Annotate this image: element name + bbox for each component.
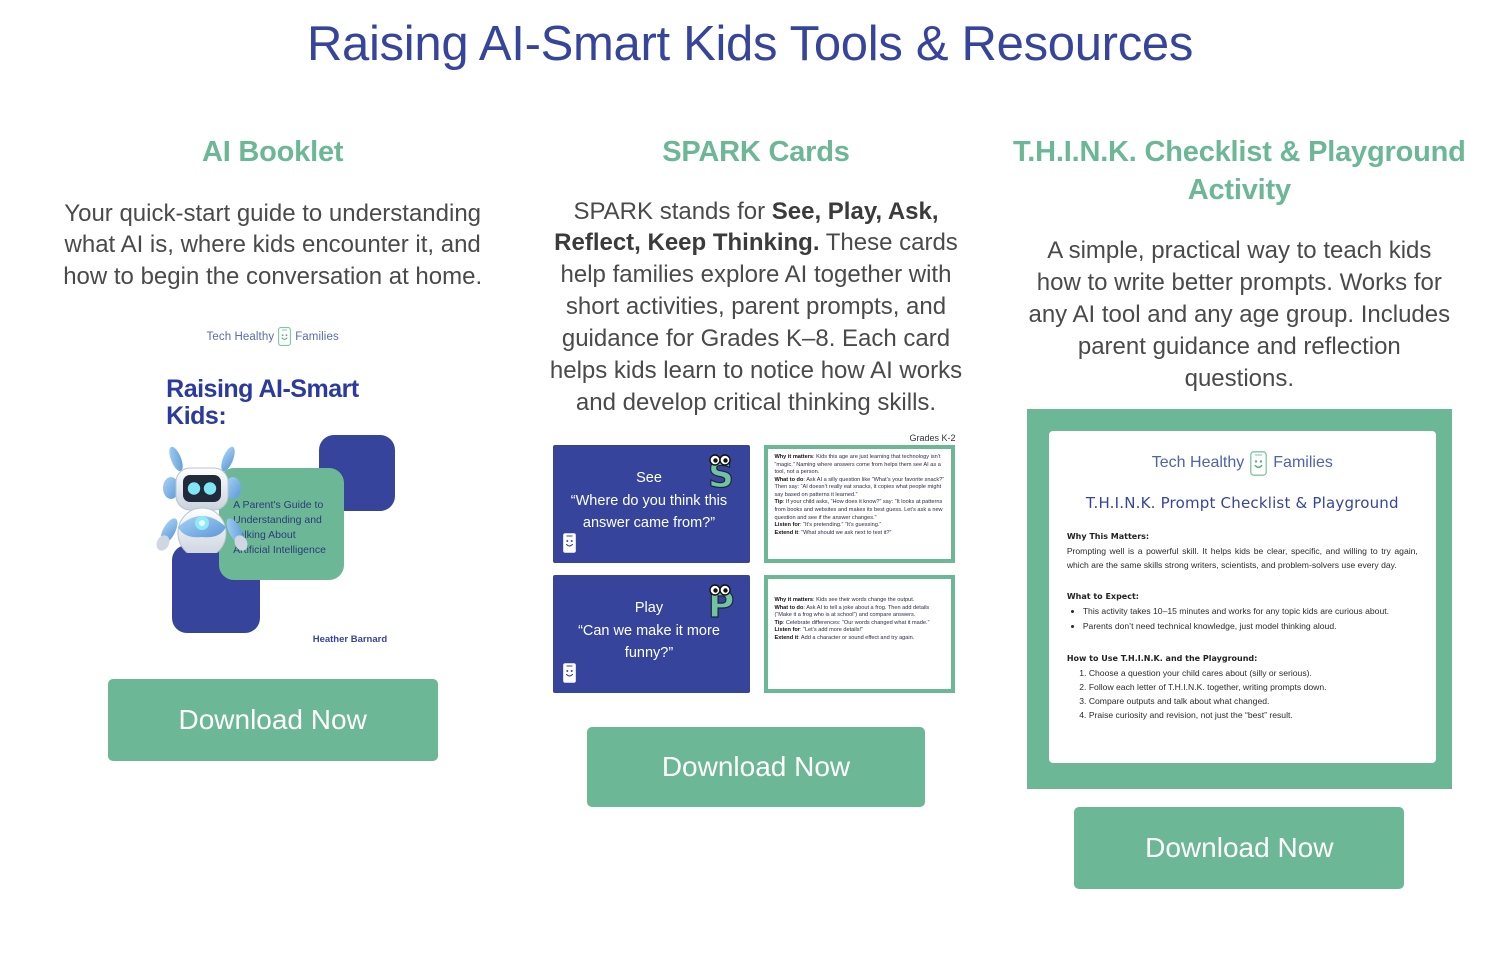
brand-name-right: Families [1273,454,1333,472]
think-section-heading-expect: What to Expect: [1067,592,1418,601]
list-item: Follow each letter of T.H.I.N.K. togethe… [1089,681,1418,695]
download-button-think-checklist[interactable]: Download Now [1074,807,1404,889]
phone-smiley-icon [1250,451,1267,476]
spark-note-text: : “It’s pretending.” “It’s guessing.” [800,522,881,528]
spark-note-text: : “Let’s add more details!” [800,627,863,633]
spark-note-line: What to do: Ask AI a silly question like… [774,477,945,500]
resource-heading-think-checklist: T.H.I.N.K. Checklist & Playground Activi… [1009,134,1470,209]
think-section-heading-why: Why This Matters: [1067,532,1418,541]
booklet-cover-artwork: A Parent's Guide to Understanding and Ta… [144,435,401,650]
think-document-preview: Tech Healthy Families T.H [1027,409,1452,789]
spark-note-label: Why it matters [774,597,813,603]
spark-note-label: Tip [774,499,782,505]
robot-mascot-icon [154,443,250,553]
brand-name-left: Tech Healthy [207,331,275,343]
spark-note-label: What to do [774,477,803,483]
think-howto-list: Choose a question your child cares about… [1089,667,1418,723]
spark-letter-p-icon: P [704,581,738,621]
resource-description-think-checklist: A simple, practical way to teach kids ho… [1027,235,1452,395]
spark-note-label: Extend it [774,635,798,641]
spark-note-line: Why it matters: Kids see their words cha… [774,597,945,605]
think-document-page: Tech Healthy Families T.H [1049,431,1436,763]
spark-card-see-prompt: “Where do you think this answer came fro… [567,490,730,535]
spark-note-line: Why it matters: Kids this age are just l… [774,454,945,477]
spark-grade-label: Grades K-2 [553,433,958,443]
download-button-ai-booklet[interactable]: Download Now [108,679,438,761]
spark-note-line: What to do: Ask AI to tell a joke about … [774,605,945,620]
spark-card-see: See “Where do you think this answer came… [553,445,750,563]
spark-note-line: Listen for: “It’s pretending.” “It’s gue… [774,522,945,530]
spark-note-text: : Kids see their words change the output… [813,597,914,603]
brand-name-right: Families [295,331,339,343]
spark-phone-watermark-icon [562,532,577,554]
spark-note-label: Listen for [774,627,799,633]
think-document-title: T.H.I.N.K. Prompt Checklist & Playground [1067,494,1418,512]
download-button-spark-cards[interactable]: Download Now [587,727,925,807]
spark-note-text: : Add a character or sound effect and tr… [798,635,914,641]
spark-desc-lead: SPARK stands for [573,198,771,225]
spark-letter-s-icon: S [704,451,738,491]
spark-note-line: Extend it: Add a character or sound effe… [774,635,945,643]
spark-note-label: Tip [774,620,782,626]
list-item: Praise curiosity and revision, not just … [1089,709,1418,723]
think-section-heading-howto: How to Use T.H.I.N.K. and the Playground… [1067,654,1418,663]
think-section-text-why: Prompting well is a powerful skill. It h… [1067,545,1418,573]
list-item: This activity takes 10–15 minutes and wo… [1083,605,1418,619]
spark-desc-rest: These cards help families explore AI tog… [550,229,962,416]
resource-columns: AI Booklet Your quick-start guide to und… [0,134,1500,889]
spark-note-line: Tip: If your child asks, “How does it kn… [774,499,945,522]
spark-note-label: Why it matters [774,454,813,460]
spark-notes-panel-see: Why it matters: Kids this age are just l… [764,445,955,563]
resource-description-spark-cards: SPARK stands for See, Play, Ask, Reflect… [541,196,971,419]
booklet-author-byline: Heather Barnard [313,634,387,645]
spark-note-text: : “What should we ask next to test it?” [798,530,891,536]
spark-cards-preview: Grades K-2 See “Where do you think this … [553,433,958,705]
resource-heading-ai-booklet: AI Booklet [202,134,343,172]
think-brand-logo: Tech Healthy Families [1067,451,1418,476]
spark-note-line: Listen for: “Let’s add more details!” [774,627,945,635]
resource-card-ai-booklet: AI Booklet Your quick-start guide to und… [42,134,503,761]
resource-description-ai-booklet: Your quick-start guide to understanding … [63,198,483,294]
booklet-brand-logo: Tech Healthy Families [144,327,401,346]
booklet-cover-title: Raising AI-Smart Kids: [166,376,401,429]
resource-card-spark-cards: SPARK Cards SPARK stands for See, Play, … [525,134,986,807]
spark-note-text: : If your child asks, “How does it know?… [774,499,942,520]
think-expect-list: This activity takes 10–15 minutes and wo… [1083,605,1418,634]
page-title: Raising AI-Smart Kids Tools & Resources [0,0,1500,72]
spark-card-row: See “Where do you think this answer came… [553,445,958,563]
booklet-cover-preview: Tech Healthy Families Raising AI-Smart K… [144,313,401,653]
list-item: Parents don’t need technical knowledge, … [1083,620,1418,634]
spark-note-text: : Celebrate differences: “Our words chan… [783,620,930,626]
resource-card-think-checklist: T.H.I.N.K. Checklist & Playground Activi… [1009,134,1470,889]
spark-note-line: Extend it: “What should we ask next to t… [774,530,945,538]
spark-note-label: Extend it [774,530,798,536]
list-item: Compare outputs and talk about what chan… [1089,695,1418,709]
resource-heading-spark-cards: SPARK Cards [662,134,849,172]
list-item: Choose a question your child cares about… [1089,667,1418,681]
spark-notes-panel-play: Why it matters: Kids see their words cha… [764,575,955,693]
brand-name-left: Tech Healthy [1152,454,1245,472]
spark-card-play-prompt: “Can we make it more funny?” [567,620,730,665]
resources-page: Raising AI-Smart Kids Tools & Resources … [0,0,1500,974]
spark-note-label: What to do [774,605,803,611]
phone-smiley-icon [278,327,291,346]
spark-phone-watermark-icon [562,662,577,684]
spark-note-label: Listen for [774,522,799,528]
spark-card-row: Play “Can we make it more funny?” P [553,575,958,693]
spark-note-line: Tip: Celebrate differences: “Our words c… [774,620,945,628]
spark-card-play: Play “Can we make it more funny?” P [553,575,750,693]
